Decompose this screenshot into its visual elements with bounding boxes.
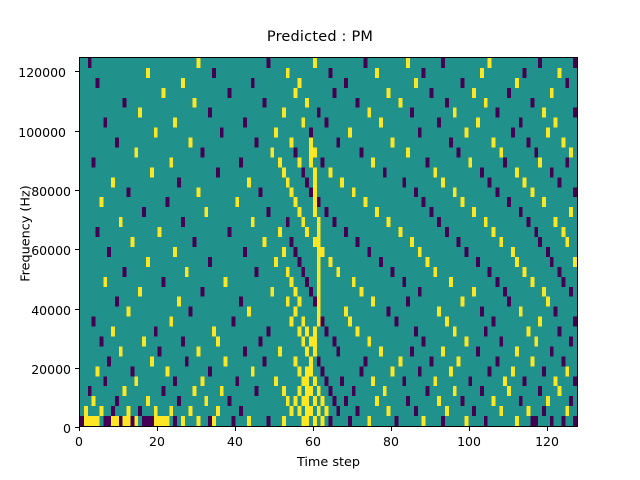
ytick-label-5: 100000	[2, 125, 66, 140]
ytick-mark-2	[75, 309, 79, 310]
ytick-label-1: 20000	[7, 362, 71, 377]
ytick-mark-3	[75, 249, 79, 250]
x-axis-label: Time step	[79, 455, 578, 470]
xtick-label-6: 120	[517, 434, 577, 449]
ytick-label-6: 120000	[2, 65, 66, 80]
ytick-label-0: 0	[7, 421, 71, 436]
xtick-mark-2	[235, 427, 236, 431]
ytick-mark-4	[75, 190, 79, 191]
ytick-label-2: 40000	[7, 303, 71, 318]
xtick-label-5: 100	[439, 434, 499, 449]
heatmap-image	[80, 58, 577, 426]
ytick-mark-6	[75, 71, 79, 72]
xtick-mark-0	[79, 427, 80, 431]
xtick-mark-3	[313, 427, 314, 431]
ytick-mark-0	[75, 427, 79, 428]
ytick-label-4: 80000	[7, 184, 71, 199]
heatmap-axes[interactable]	[79, 57, 578, 427]
ytick-mark-1	[75, 368, 79, 369]
xtick-label-0: 0	[49, 434, 109, 449]
ytick-mark-5	[75, 131, 79, 132]
xtick-label-4: 80	[361, 434, 421, 449]
figure-canvas: Predicted : PM 0 20 40 60 80 100 120 0 2…	[0, 0, 640, 480]
xtick-mark-5	[469, 427, 470, 431]
xtick-mark-6	[547, 427, 548, 431]
xtick-mark-1	[157, 427, 158, 431]
xtick-label-2: 40	[205, 434, 265, 449]
xtick-label-3: 60	[283, 434, 343, 449]
page-title: Predicted : PM	[0, 29, 640, 45]
xtick-label-1: 20	[127, 434, 187, 449]
xtick-mark-4	[391, 427, 392, 431]
ytick-label-3: 60000	[7, 243, 71, 258]
y-axis-label: Frequency (Hz)	[19, 164, 34, 304]
